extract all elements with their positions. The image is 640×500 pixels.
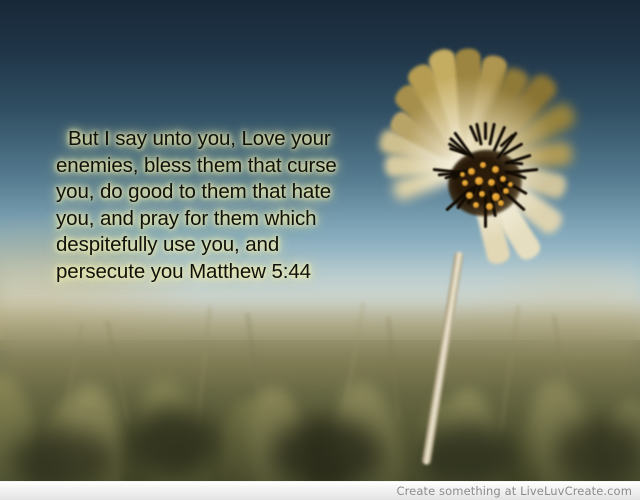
stamen-dot [480, 162, 486, 168]
stamen-dot [508, 182, 513, 187]
stamen-dot [488, 179, 495, 186]
stamen-dot [460, 172, 465, 177]
watermark-text: Create something at LiveLuvCreate.com [396, 484, 632, 498]
stamen-spike [484, 122, 487, 140]
stamen-dot [468, 168, 475, 175]
stamen-dot [479, 191, 485, 197]
stamen-dot [498, 200, 504, 206]
grass-shadow [556, 420, 640, 486]
stamen-dot [486, 203, 493, 210]
stamen-dot [462, 180, 468, 186]
stamen-dot [466, 192, 473, 199]
watermark-bar: Create something at LiveLuvCreate.com [0, 481, 640, 500]
stamen-dot [503, 188, 509, 194]
daisy-flower [352, 58, 640, 308]
grass-shadow [126, 408, 218, 478]
stamen-dot [500, 176, 506, 182]
stamen-spike [484, 195, 487, 228]
stamen-dot [492, 166, 499, 173]
scripture-quote-text: But I say unto you, Love your enemies, b… [56, 126, 366, 285]
grass-shadow [272, 418, 382, 490]
stamen-dot [473, 202, 479, 208]
stamen-dot [475, 177, 483, 185]
quote-image-canvas: But I say unto you, Love your enemies, b… [0, 0, 640, 500]
